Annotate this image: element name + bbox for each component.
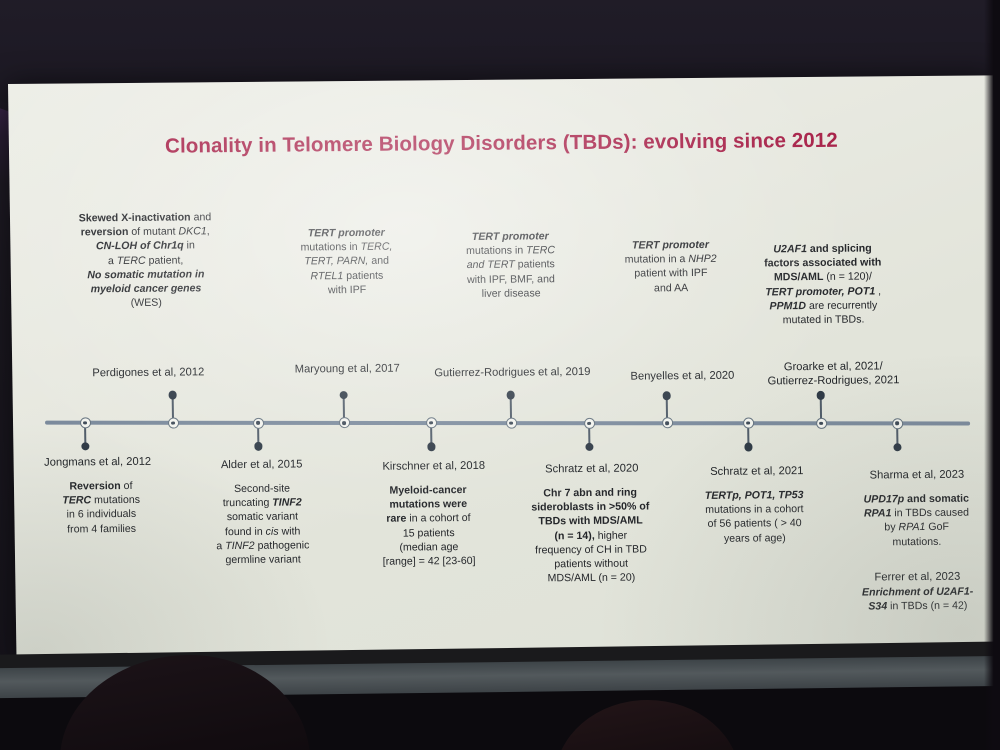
slide-content: Clonality in Telomere Biology Disorders … [8,75,1000,664]
node-2018 [425,417,436,428]
node-2019 [506,418,517,429]
citation-perdigones: Perdigones et al, 2012 [58,365,238,381]
groarke-description: U2AF1 and splicingfactors associated wit… [734,241,911,328]
node-2021b [816,418,827,429]
perdigones-description: Skewed X-inactivation andreversion of mu… [36,210,255,311]
ferrer-description: Enrichment of U2AF1-S34 in TBDs (n = 42) [834,584,1000,614]
citation-ferrer: Ferrer et al, 2023 [833,569,1000,584]
right-vignette [984,0,1000,750]
node-2012b-center-dot [171,421,174,424]
projection-screen: Clonality in Telomere Biology Disorders … [8,75,1000,664]
alder-description: Second-sitetruncating TINF2somatic varia… [182,481,343,568]
node-2012a-center-dot [83,421,86,424]
node-2021b-center-dot [819,422,822,425]
citation-groarke-line2: Gutierrez-Rodrigues, 2021 [748,373,918,388]
node-2012b [167,417,178,428]
node-2020a [584,418,595,429]
node-2020b-center-dot [665,422,668,425]
node-2021a [743,418,754,429]
kirschner-description: Myeloid-cancermutations wererare in a co… [342,483,515,570]
citation-jongmans: Jongmans et al, 2012 [8,454,188,470]
schratz2021-description: TERTp, POT1, TP53mutations in a cohortof… [668,488,841,546]
node-2012a [79,417,90,428]
node-2019-center-dot [509,421,512,424]
citation-schratz2021: Schratz et al, 2021 [669,464,845,480]
node-2015 [252,417,263,428]
benyelles-description: TERT promotermutation in a NHP2patient w… [596,238,745,296]
citation-kirschner: Kirschner et al, 2018 [344,459,524,475]
jongmans-description: Reversion ofTERC mutationsin 6 individua… [18,478,185,536]
schratz2020-description: Chr 7 abn and ringsideroblasts in >50% o… [502,485,679,586]
sharma-description: UPD17p and somaticRPA1 in TBDs causedby … [832,491,1000,549]
node-2023-center-dot [895,422,898,425]
conference-room-photo: Clonality in Telomere Biology Disorders … [0,0,1000,750]
node-2017-center-dot [342,421,345,424]
citation-groarke-line1: Groarke et al, 2021/ [748,359,918,374]
citation-benyelles: Benyelles et al, 2020 [592,368,772,384]
page-title: Clonality in Telomere Biology Disorders … [9,127,994,160]
node-2015-center-dot [256,421,259,424]
node-2018-center-dot [429,421,432,424]
citation-groarke: Groarke et al, 2021/ Gutierrez-Rodrigues… [748,359,918,388]
citation-sharma: Sharma et al, 2023 [832,467,1000,482]
node-2021a-center-dot [746,422,749,425]
gutierrez2019-description: TERT promotermutations in TERCand TERT p… [430,229,591,301]
maryoung-description: TERT promotermutations in TERC,TERT, PAR… [266,225,427,297]
node-2020a-center-dot [587,421,590,424]
citation-alder: Alder et al, 2015 [182,457,342,472]
citation-schratz2020: Schratz et al, 2020 [504,461,680,477]
node-2023 [892,418,903,429]
node-2020b [662,418,673,429]
node-2017 [338,417,349,428]
